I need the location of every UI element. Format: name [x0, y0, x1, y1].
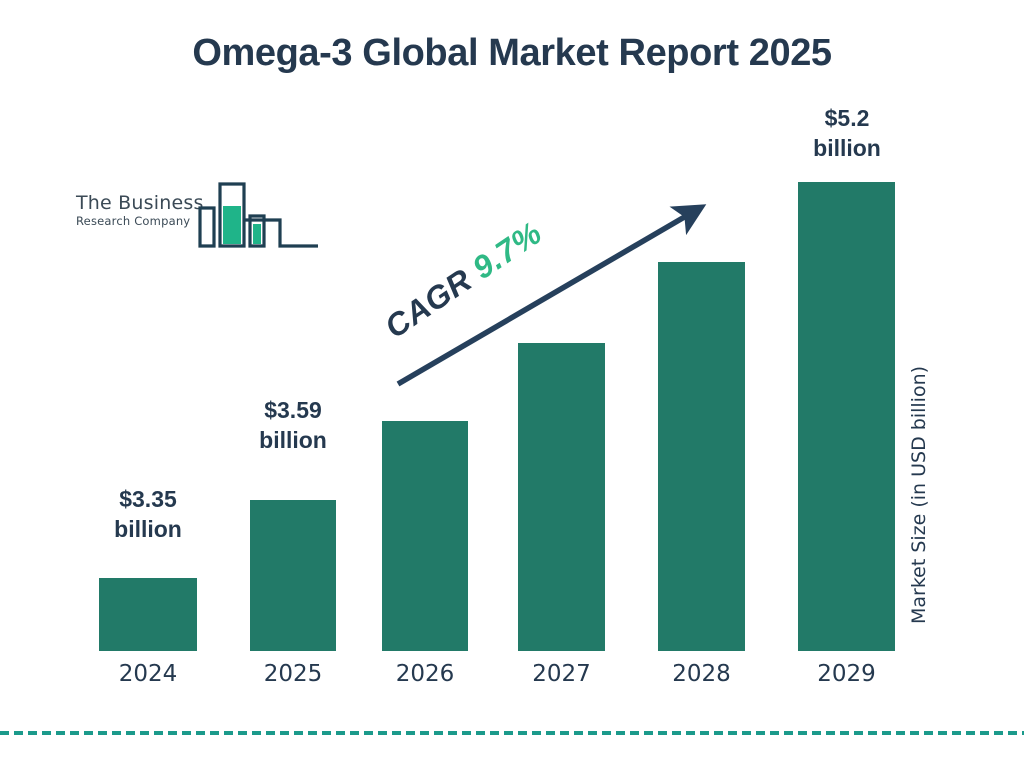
plot-area: 2024 2025 2026 2027 2028 2029 $3.35 bill…	[0, 0, 1024, 768]
chart-canvas: Omega-3 Global Market Report 2025 The Bu…	[0, 0, 1024, 768]
footer-divider	[0, 731, 1024, 735]
trend-arrow-icon	[0, 0, 1024, 768]
